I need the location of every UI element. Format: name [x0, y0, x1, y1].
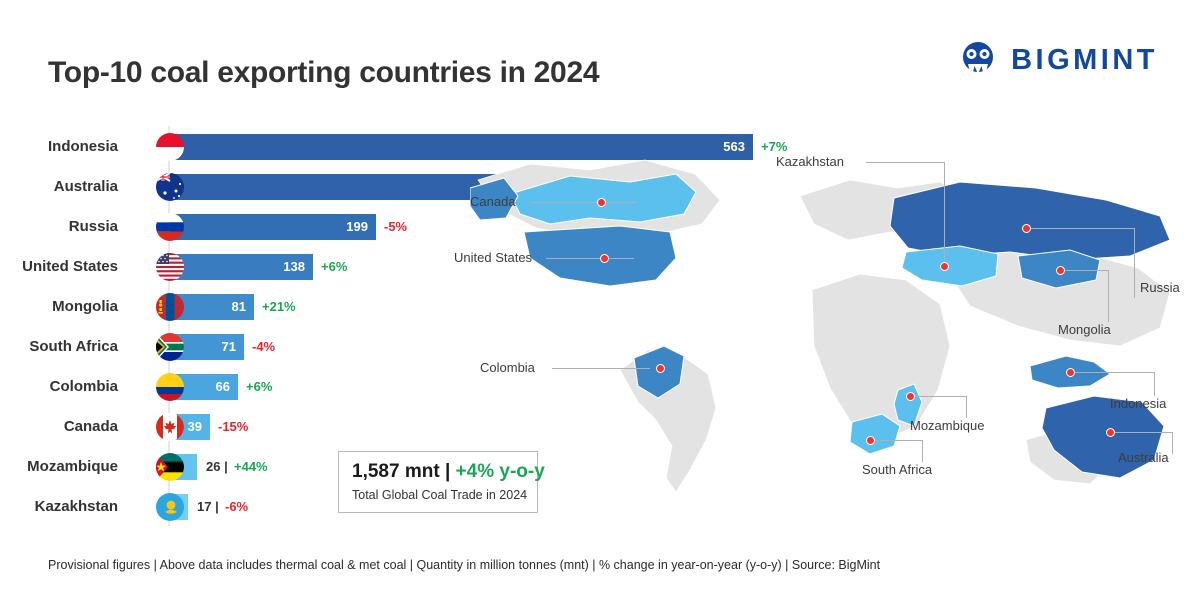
mozambique-flag-icon — [156, 453, 184, 481]
leader-line-south-africa — [870, 440, 922, 441]
russia-flag-icon — [156, 213, 184, 241]
bar-country-label: South Africa — [0, 334, 118, 360]
bar-fill — [170, 214, 376, 240]
total-separator: | — [445, 461, 450, 482]
map-marker-mozambique — [906, 392, 915, 401]
map-label-australia: Australia — [1118, 450, 1169, 465]
australia-flag-icon — [156, 173, 184, 201]
bar-pct-change: +44% — [234, 454, 268, 480]
map-marker-mongolia — [1056, 266, 1065, 275]
map-marker-russia — [1022, 224, 1031, 233]
leader-line-australia-v — [1172, 432, 1173, 454]
bar-country-label: United States — [0, 254, 118, 280]
south-africa-flag-icon — [156, 333, 184, 361]
leader-line-canada — [530, 202, 636, 203]
bar-value: 81 — [232, 294, 246, 320]
leader-line-mozambique — [910, 396, 966, 397]
bar-value: 71 — [222, 334, 236, 360]
map-marker-australia — [1106, 428, 1115, 437]
bar-value: 138 — [283, 254, 305, 280]
leader-line-united-states — [546, 258, 634, 259]
map-label-indonesia: Indonesia — [1110, 396, 1166, 411]
brand-logo: BIGMINT — [958, 40, 1158, 80]
leader-line-russia-h — [1026, 228, 1134, 229]
map-label-mozambique: Mozambique — [910, 418, 984, 433]
canada-flag-icon — [156, 413, 184, 441]
bar-track: 138 — [170, 254, 313, 280]
bar-track: 199 — [170, 214, 376, 240]
bar-pct-change: -5% — [384, 214, 407, 240]
leader-line-colombia — [552, 368, 650, 369]
indonesia-flag-icon — [156, 133, 184, 161]
leader-line-mongolia-v — [1108, 270, 1109, 322]
leader-line-australia — [1110, 432, 1172, 433]
world-map: Canada United States Colombia Kazakhstan… — [470, 140, 1200, 530]
bar-country-label: Australia — [0, 174, 118, 200]
map-marker-canada — [597, 198, 606, 207]
bar-value: 26 | — [206, 454, 228, 480]
map-marker-united-states — [600, 254, 609, 263]
bar-pct-change: -4% — [252, 334, 275, 360]
map-label-colombia: Colombia — [480, 360, 535, 375]
colombia-flag-icon — [156, 373, 184, 401]
mongolia-flag-icon — [156, 293, 184, 321]
brand-wordmark: BIGMINT — [1011, 44, 1158, 77]
total-value: 1,587 mnt — [352, 461, 440, 482]
map-country-russia — [890, 182, 1170, 260]
map-marker-colombia — [656, 364, 665, 373]
bar-country-label: Kazakhstan — [0, 494, 118, 520]
map-label-united-states: United States — [454, 250, 532, 265]
map-label-canada: Canada — [470, 194, 516, 209]
bar-country-label: Mongolia — [0, 294, 118, 320]
bar-country-label: Mozambique — [0, 454, 118, 480]
bar-country-label: Canada — [0, 414, 118, 440]
bar-country-label: Colombia — [0, 374, 118, 400]
leader-line-indonesia-v — [1154, 372, 1155, 396]
bar-value-number: 17 — [197, 499, 211, 514]
bar-value: 66 — [216, 374, 230, 400]
bar-pct-change: -15% — [218, 414, 248, 440]
footnote: Provisional figures | Above data include… — [48, 558, 880, 572]
map-label-mongolia: Mongolia — [1058, 322, 1111, 337]
bar-value: 17 | — [197, 494, 219, 520]
leader-line-mozambique-v — [966, 396, 967, 418]
bar-country-label: Indonesia — [0, 134, 118, 160]
bar-pct-change: +21% — [262, 294, 296, 320]
leader-line-kazakhstan-v — [944, 162, 945, 266]
map-marker-indonesia — [1066, 368, 1075, 377]
bigmint-logo-icon — [958, 40, 998, 80]
leader-line-kazakhstan-h — [866, 162, 944, 163]
bar-value-number: 26 — [206, 459, 220, 474]
leader-line-indonesia — [1070, 372, 1154, 373]
bar-country-label: Russia — [0, 214, 118, 240]
map-label-kazakhstan: Kazakhstan — [776, 154, 844, 169]
map-marker-kazakhstan — [940, 262, 949, 271]
leader-line-south-africa-v — [922, 440, 923, 462]
bar-pct-change: +6% — [321, 254, 347, 280]
bar-value-separator: | — [224, 459, 228, 474]
kazakhstan-flag-icon — [156, 493, 184, 521]
bar-value: 199 — [346, 214, 368, 240]
map-marker-south-africa — [866, 436, 875, 445]
bar-pct-change: -6% — [225, 494, 248, 520]
united-states-flag-icon — [156, 253, 184, 281]
page-title: Top-10 coal exporting countries in 2024 — [48, 56, 599, 90]
bar-pct-change: +6% — [246, 374, 272, 400]
bar-value: 39 — [188, 414, 202, 440]
leader-line-russia-v — [1134, 228, 1135, 298]
map-label-russia: Russia — [1140, 280, 1180, 295]
map-label-south-africa: South Africa — [862, 462, 932, 477]
leader-line-mongolia-h — [1060, 270, 1108, 271]
bar-value-separator: | — [215, 499, 219, 514]
map-country-kazakhstan — [902, 246, 998, 286]
